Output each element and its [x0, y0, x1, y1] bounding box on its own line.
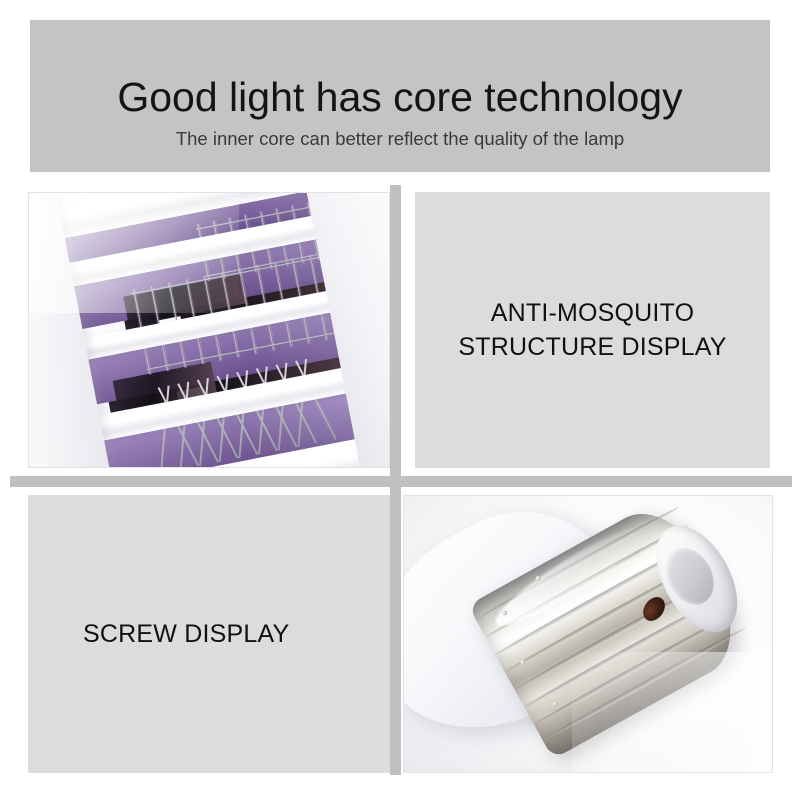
screw-display-caption-panel: SCREW DISPLAY: [28, 495, 390, 773]
caption-line-2: STRUCTURE DISPLAY: [458, 330, 726, 365]
product-infographic-page: Good light has core technology The inner…: [0, 0, 800, 800]
mosquito-grille-illustration: [29, 193, 389, 467]
header-banner: Good light has core technology The inner…: [30, 20, 770, 172]
caption-line-1: ANTI-MOSQUITO: [458, 296, 726, 331]
anti-mosquito-caption: ANTI-MOSQUITO STRUCTURE DISPLAY: [458, 296, 726, 365]
screw-display-caption: SCREW DISPLAY: [83, 617, 289, 652]
horizontal-divider: [10, 476, 792, 487]
page-subtitle: The inner core can better reflect the qu…: [176, 128, 624, 150]
caption-line-1: SCREW DISPLAY: [83, 617, 289, 652]
page-title: Good light has core technology: [117, 76, 682, 119]
anti-mosquito-caption-panel: ANTI-MOSQUITO STRUCTURE DISPLAY: [415, 192, 770, 468]
e27-screw-base-illustration: [404, 496, 772, 772]
anti-mosquito-structure-photo: [28, 192, 390, 468]
screw-base-photo: [403, 495, 773, 773]
